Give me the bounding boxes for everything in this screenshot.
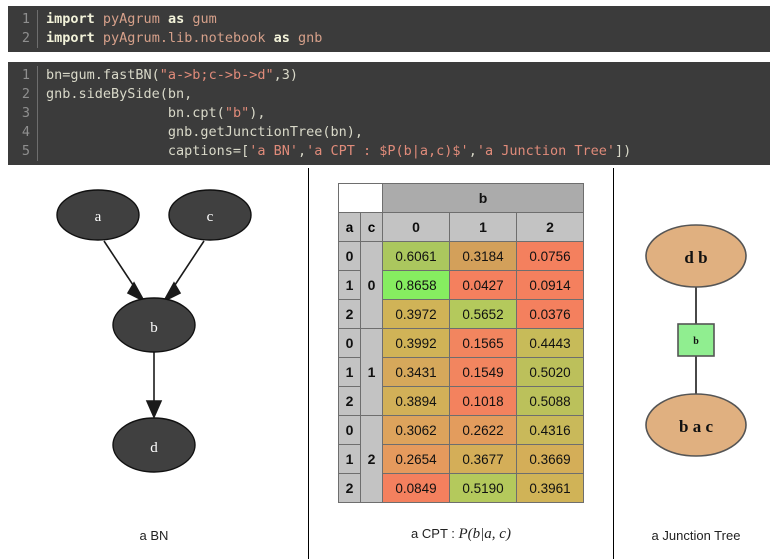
bn-arrowhead-a-b bbox=[128, 283, 144, 301]
bn-arrowhead-c-b bbox=[164, 283, 180, 301]
cpt-caption-prefix: a CPT : bbox=[411, 526, 458, 541]
cpt-value-cell: 0.0376 bbox=[517, 300, 584, 329]
jt-graph-body: d b b b a c bbox=[614, 168, 778, 518]
panel-bayesian-network: a c b d a BN bbox=[0, 168, 308, 559]
line-number: 2 bbox=[8, 29, 38, 48]
jt-separator-b[interactable]: b bbox=[678, 324, 714, 356]
code-line-text: gnb.sideBySide(bn, bbox=[38, 85, 192, 104]
cpt-value-cell: 0.0427 bbox=[450, 271, 517, 300]
line-number: 4 bbox=[8, 123, 38, 142]
code-line: 2 gnb.sideBySide(bn, bbox=[8, 85, 770, 104]
bn-graph-svg[interactable]: a c b d bbox=[34, 183, 274, 503]
code-line-text: import pyAgrum as gum bbox=[38, 10, 217, 29]
cpt-value-cell: 0.3894 bbox=[383, 387, 450, 416]
bn-node-a[interactable]: a bbox=[57, 190, 139, 240]
cpt-value-cell: 0.0914 bbox=[517, 271, 584, 300]
cpt-row: 020.30620.26220.4316 bbox=[339, 416, 584, 445]
line-number: 3 bbox=[8, 104, 38, 123]
cpt-value-cell: 0.1018 bbox=[450, 387, 517, 416]
cpt-value-cell: 0.1549 bbox=[450, 358, 517, 387]
code-line-text: bn=gum.fastBN("a->b;c->b->d",3) bbox=[38, 66, 298, 85]
cpt-value-cell: 0.5652 bbox=[450, 300, 517, 329]
bn-node-d-label: d bbox=[150, 440, 158, 456]
cpt-index-a: 1 bbox=[339, 445, 361, 474]
cpt-index-a: 2 bbox=[339, 474, 361, 503]
cpt-index-a: 2 bbox=[339, 387, 361, 416]
line-number: 2 bbox=[8, 85, 38, 104]
cpt-value-cell: 0.3669 bbox=[517, 445, 584, 474]
code-line: 1 import pyAgrum as gum bbox=[8, 10, 770, 29]
bn-caption: a BN bbox=[0, 528, 308, 543]
cpt-index-a: 0 bbox=[339, 329, 361, 358]
bn-node-c-label: c bbox=[207, 209, 214, 225]
cpt-header-variable-b: b bbox=[383, 184, 584, 213]
cpt-value-cell: 0.3972 bbox=[383, 300, 450, 329]
cpt-value-cell: 0.1565 bbox=[450, 329, 517, 358]
panel-junction-tree: d b b b a c a Junction Tree bbox=[614, 168, 778, 559]
cpt-column-header-1: 1 bbox=[450, 213, 517, 242]
bn-edge-c-b bbox=[171, 241, 204, 291]
bn-node-c[interactable]: c bbox=[169, 190, 251, 240]
jt-clique-bac[interactable]: b a c bbox=[646, 394, 746, 456]
jt-graph-svg[interactable]: d b b b a c bbox=[626, 208, 766, 478]
bn-arrowhead-b-d bbox=[147, 401, 161, 417]
cpt-row: 010.39920.15650.4443 bbox=[339, 329, 584, 358]
line-number: 5 bbox=[8, 142, 38, 161]
cpt-row: 000.60610.31840.0756 bbox=[339, 242, 584, 271]
cpt-index-a: 1 bbox=[339, 271, 361, 300]
cpt-header-row-cols: ac012 bbox=[339, 213, 584, 242]
code-line: 4 gnb.getJunctionTree(bn), bbox=[8, 123, 770, 142]
cpt-value-cell: 0.0756 bbox=[517, 242, 584, 271]
cpt-header-a: a bbox=[339, 213, 361, 242]
jt-clique-bac-label: b a c bbox=[679, 417, 713, 436]
bn-node-b[interactable]: b bbox=[113, 298, 195, 352]
bn-node-a-label: a bbox=[95, 209, 102, 225]
cpt-value-cell: 0.3062 bbox=[383, 416, 450, 445]
code-cell-imports[interactable]: 1 import pyAgrum as gum 2 import pyAgrum… bbox=[8, 6, 770, 52]
cpt-index-c: 2 bbox=[361, 416, 383, 503]
cpt-value-cell: 0.3431 bbox=[383, 358, 450, 387]
jt-separator-b-label: b bbox=[693, 336, 699, 347]
cpt-header-row-top: b bbox=[339, 184, 584, 213]
code-line-text: gnb.getJunctionTree(bn), bbox=[38, 123, 363, 142]
cpt-value-cell: 0.6061 bbox=[383, 242, 450, 271]
cpt-caption-math: P(b|a, c) bbox=[459, 526, 511, 542]
jt-clique-db[interactable]: d b bbox=[646, 225, 746, 287]
output-panels: a c b d a BN bbox=[0, 168, 778, 559]
cpt-value-cell: 0.3677 bbox=[450, 445, 517, 474]
line-number: 1 bbox=[8, 66, 38, 85]
cpt-value-cell: 0.3992 bbox=[383, 329, 450, 358]
cpt-value-cell: 0.8658 bbox=[383, 271, 450, 300]
line-number: 1 bbox=[8, 10, 38, 29]
cpt-table[interactable]: bac012000.60610.31840.075610.86580.04270… bbox=[338, 183, 584, 503]
bn-edge-a-b bbox=[104, 241, 137, 291]
code-line: 2 import pyAgrum.lib.notebook as gnb bbox=[8, 29, 770, 48]
code-line-text: bn.cpt("b"), bbox=[38, 104, 265, 123]
bn-node-b-label: b bbox=[150, 320, 158, 336]
bn-graph-body: a c b d bbox=[0, 168, 308, 518]
jt-clique-db-label: d b bbox=[684, 248, 707, 267]
bn-node-d[interactable]: d bbox=[113, 418, 195, 472]
cpt-value-cell: 0.3184 bbox=[450, 242, 517, 271]
cpt-index-c: 0 bbox=[361, 242, 383, 329]
cpt-column-header-0: 0 bbox=[383, 213, 450, 242]
code-cell-sidebyside[interactable]: 1 bn=gum.fastBN("a->b;c->b->d",3) 2 gnb.… bbox=[8, 62, 770, 165]
cpt-table-body: bac012000.60610.31840.075610.86580.04270… bbox=[309, 168, 613, 518]
cpt-value-cell: 0.5088 bbox=[517, 387, 584, 416]
code-line: 5 captions=['a BN','a CPT : $P(b|a,c)$',… bbox=[8, 142, 770, 161]
cpt-header-c: c bbox=[361, 213, 383, 242]
jt-caption: a Junction Tree bbox=[614, 528, 778, 543]
cpt-value-cell: 0.4316 bbox=[517, 416, 584, 445]
code-line: 3 bn.cpt("b"), bbox=[8, 104, 770, 123]
cpt-corner-cell bbox=[339, 184, 383, 213]
panel-cpt: bac012000.60610.31840.075610.86580.04270… bbox=[309, 168, 613, 559]
cpt-caption: a CPT : P(b|a, c) bbox=[309, 526, 613, 543]
cpt-value-cell: 0.5190 bbox=[450, 474, 517, 503]
cpt-index-c: 1 bbox=[361, 329, 383, 416]
code-line-text: captions=['a BN','a CPT : $P(b|a,c)$','a… bbox=[38, 142, 631, 161]
cpt-index-a: 0 bbox=[339, 416, 361, 445]
cpt-index-a: 0 bbox=[339, 242, 361, 271]
code-line-text: import pyAgrum.lib.notebook as gnb bbox=[38, 29, 322, 48]
code-line: 1 bn=gum.fastBN("a->b;c->b->d",3) bbox=[8, 66, 770, 85]
cpt-index-a: 2 bbox=[339, 300, 361, 329]
cpt-value-cell: 0.5020 bbox=[517, 358, 584, 387]
cpt-index-a: 1 bbox=[339, 358, 361, 387]
cpt-value-cell: 0.2654 bbox=[383, 445, 450, 474]
cpt-value-cell: 0.3961 bbox=[517, 474, 584, 503]
cpt-value-cell: 0.2622 bbox=[450, 416, 517, 445]
cpt-value-cell: 0.4443 bbox=[517, 329, 584, 358]
cpt-value-cell: 0.0849 bbox=[383, 474, 450, 503]
cpt-column-header-2: 2 bbox=[517, 213, 584, 242]
